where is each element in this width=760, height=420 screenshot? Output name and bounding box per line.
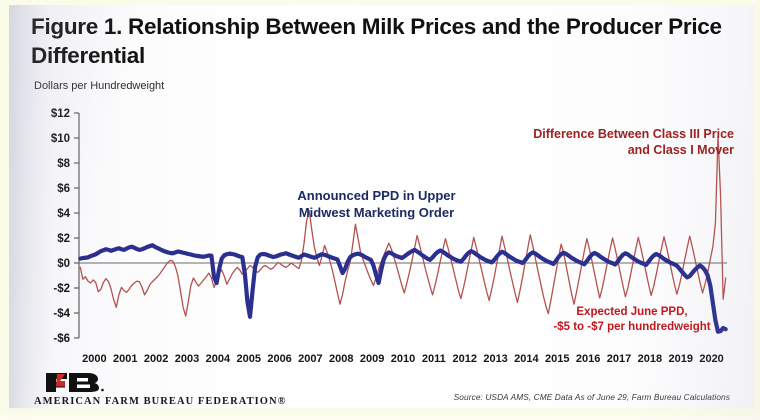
- x-axis-tick-label: 2015: [545, 353, 569, 365]
- x-axis-tick-label: 2007: [298, 353, 322, 365]
- x-axis-tick-label: 2019: [668, 353, 692, 365]
- x-axis-tick-label: 2016: [576, 353, 600, 365]
- x-axis-tick-label: 2008: [329, 353, 353, 365]
- x-axis-tick-label: 2012: [452, 353, 476, 365]
- y-axis-tick-label: -$4: [53, 308, 70, 320]
- x-axis-tick-label: 2013: [483, 353, 507, 365]
- x-axis-tick-label: 2005: [236, 353, 260, 365]
- axis-units-label: Dollars per Hundredweight: [34, 80, 164, 92]
- x-axis-tick-label: 2002: [144, 353, 168, 365]
- y-axis-tick-label: $4: [57, 208, 70, 220]
- y-axis-tick-label: -$6: [53, 333, 70, 345]
- y-axis-tick-label: $6: [57, 183, 70, 195]
- y-axis-tick-label: $12: [51, 108, 70, 120]
- annotation-line-2: Midwest Marketing Order: [264, 205, 489, 222]
- x-axis-tick-label: 2020: [699, 353, 723, 365]
- organization-name: AMERICAN FARM BUREAU FEDERATION®: [34, 396, 287, 407]
- x-axis-tick-label: 2000: [82, 353, 106, 365]
- annotation-class-iii-difference: Difference Between Class III Price and C…: [479, 126, 734, 158]
- y-axis-tick-label: -$2: [53, 283, 70, 295]
- page-title: Figure 1. Relationship Between Milk Pric…: [31, 13, 731, 70]
- annotation-line-1: Announced PPD in Upper: [264, 188, 489, 205]
- annotation-line-2: and Class I Mover: [479, 142, 734, 158]
- annotation-line-1: Expected June PPD,: [517, 305, 747, 320]
- figure-footer: AMERICAN FARM BUREAU FEDERATION® Source:…: [9, 368, 754, 413]
- x-axis-tick-label: 2009: [360, 353, 384, 365]
- x-axis-tick-label: 2004: [206, 353, 231, 365]
- y-axis-tick-label: $2: [57, 233, 70, 245]
- figure-page: Figure 1. Relationship Between Milk Pric…: [0, 0, 760, 415]
- chart-series-line: [80, 136, 725, 316]
- x-axis-tick-label: 2017: [607, 353, 631, 365]
- figure-surface: Figure 1. Relationship Between Milk Pric…: [9, 5, 754, 408]
- x-axis-tick-label: 2018: [638, 353, 662, 365]
- annotation-line-2: -$5 to -$7 per hundredweight: [517, 320, 747, 335]
- annotation-announced-ppd: Announced PPD in Upper Midwest Marketing…: [264, 188, 489, 221]
- y-axis-tick-label: $8: [57, 158, 70, 170]
- x-axis-tick-label: 2010: [391, 353, 415, 365]
- x-axis-tick-label: 2003: [175, 353, 199, 365]
- annotation-expected-june-ppd: Expected June PPD, -$5 to -$7 per hundre…: [517, 305, 747, 334]
- y-axis-tick-label: $10: [51, 133, 70, 145]
- x-axis-tick-label: 2011: [422, 353, 446, 365]
- annotation-line-1: Difference Between Class III Price: [479, 126, 734, 142]
- x-axis-tick-label: 2014: [514, 353, 539, 365]
- x-axis-tick-label: 2001: [113, 353, 137, 365]
- y-axis-tick-label: $0: [57, 258, 70, 270]
- afbf-logo-icon: [45, 371, 107, 394]
- x-axis-tick-label: 2006: [267, 353, 291, 365]
- source-note: Source: USDA AMS, CME Data As of June 29…: [454, 392, 730, 402]
